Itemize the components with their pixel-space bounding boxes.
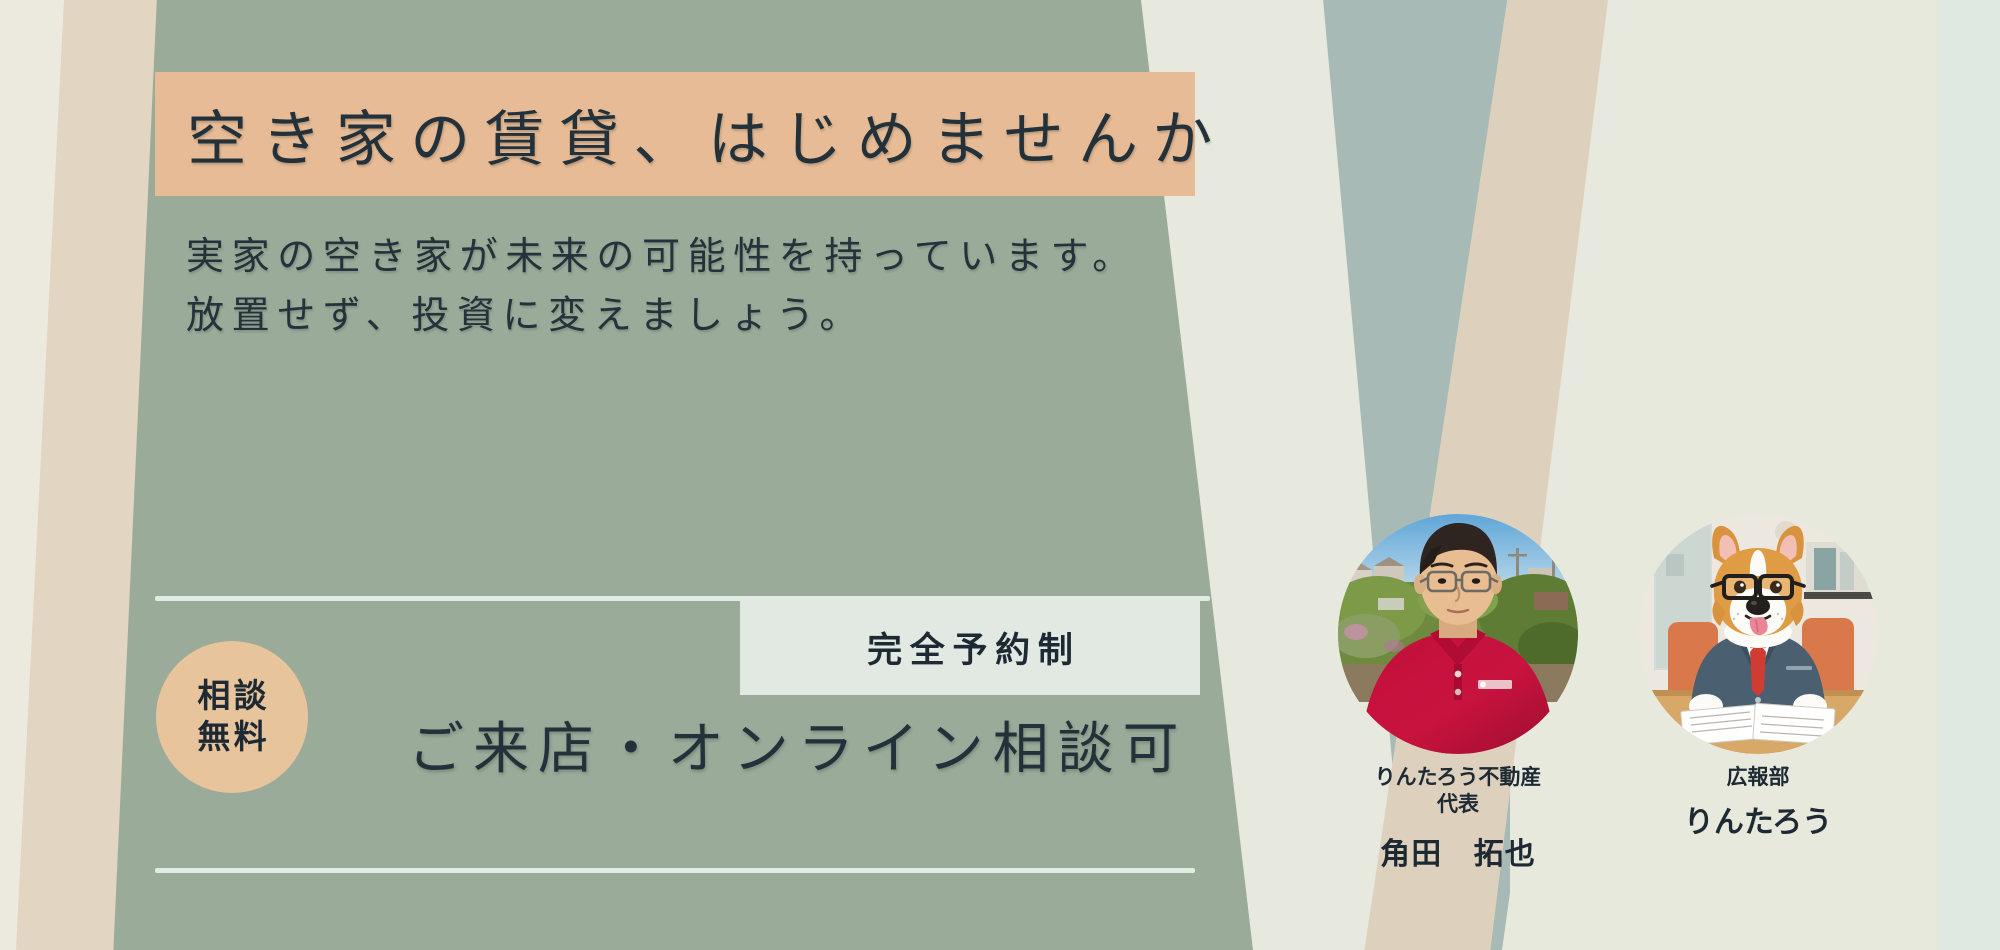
subtitle-line-1: 実家の空き家が未来の可能性を持っています。 <box>186 228 1138 287</box>
divider-bottom <box>155 868 1195 873</box>
red-polo-man-photo-icon <box>1338 514 1578 754</box>
person-caption: りんたろう不動産 代表 角田 拓也 <box>1338 764 1578 873</box>
person-name: りんたろう <box>1638 797 1878 841</box>
cta-text: ご来店・オンライン相談可 <box>408 704 1188 785</box>
free-badge-line-2: 無料 <box>194 719 270 756</box>
headline-text: 空き家の賃貸、はじめませんか <box>187 91 1227 178</box>
corgi-in-suit-illustration-icon <box>1638 514 1878 754</box>
person-card-pr: 広報部 りんたろう <box>1638 514 1878 841</box>
person-card-ceo: りんたろう不動産 代表 角田 拓也 <box>1338 514 1578 873</box>
person-caption: 広報部 りんたろう <box>1638 764 1878 841</box>
person-company: りんたろう不動産 <box>1338 764 1578 791</box>
avatar <box>1338 514 1578 754</box>
person-role: 代表 <box>1338 791 1578 818</box>
subtitle-line-2: 放置せず、投資に変えましょう。 <box>186 287 1138 346</box>
promo-banner: 空き家の賃貸、はじめませんか 実家の空き家が未来の可能性を持っています。 放置せ… <box>0 0 2000 950</box>
reservation-badge: 完全予約制 <box>740 600 1200 695</box>
subtitle-block: 実家の空き家が未来の可能性を持っています。 放置せず、投資に変えましょう。 <box>186 228 1138 346</box>
free-consultation-badge: 相談 無料 <box>156 641 308 793</box>
background-band-right-mint <box>1938 0 2000 950</box>
free-badge-line-1: 相談 <box>194 678 270 715</box>
avatar <box>1638 514 1878 754</box>
person-name: 角田 拓也 <box>1338 829 1578 873</box>
headline-banner: 空き家の賃貸、はじめませんか <box>155 72 1195 196</box>
reservation-badge-label: 完全予約制 <box>859 622 1080 673</box>
person-department: 広報部 <box>1638 764 1878 791</box>
